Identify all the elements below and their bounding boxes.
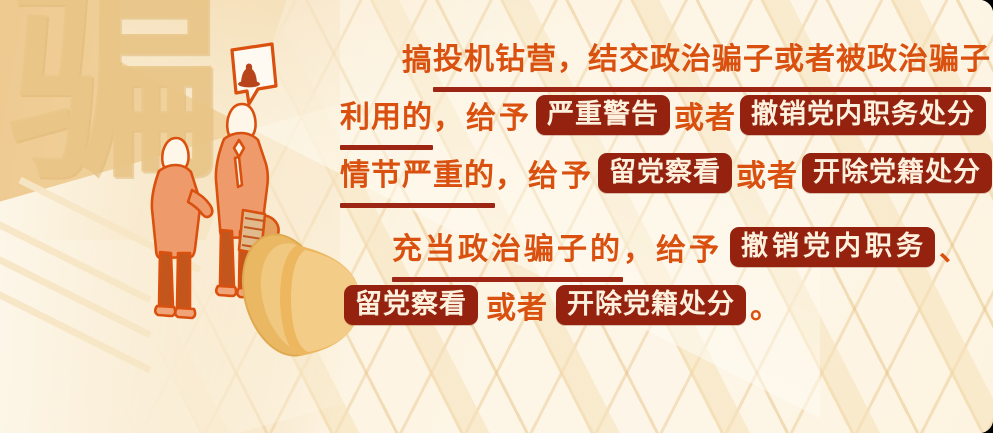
text-segment-underlined: 充当政治骗子的 [392, 224, 623, 270]
text-segment-punctuation: 。 [750, 283, 781, 327]
text-segment: 搞 [402, 35, 433, 79]
paragraph-2: 充当政治骗子的 ，给予 撤销党内职务 、 留党察看 或者 开除党籍处分 。 [340, 218, 980, 334]
text-segment-underlined: 情节严重的 [340, 150, 495, 196]
poster-container: 骗 [0, 0, 993, 433]
speech-bubble-icon [232, 44, 276, 104]
penalty-badge-probation[interactable]: 留党察看 [598, 153, 732, 193]
penalty-badge-expulsion[interactable]: 开除党籍处分 [802, 153, 992, 193]
penalty-badge-revoke-party-post-2[interactable]: 撤销党内职务 [730, 227, 935, 267]
text-segment-underlined: 投机钻营，结交政治骗子或者被政治骗子 [433, 34, 991, 80]
paragraph-1: 搞 投机钻营，结交政治骗子或者被政治骗子 利用的 ，给予 严重警告 或者 撤销党… [340, 28, 980, 202]
text-segment: ，给予 [495, 151, 594, 195]
paragraph-1-line-1: 搞 投机钻营，结交政治骗子或者被政治骗子 [340, 28, 980, 86]
penalty-badge-severe-warning[interactable]: 严重警告 [536, 95, 670, 135]
text-segment: 或者 [674, 93, 736, 137]
text-segment: 或者 [736, 151, 798, 195]
paragraph-2-line-2: 留党察看 或者 开除党籍处分 。 [340, 276, 980, 334]
paragraph-1-line-2: 利用的 ，给予 严重警告 或者 撤销党内职务处分 ； [340, 86, 980, 144]
corner-mask-bottom-right [979, 419, 993, 433]
paragraph-1-line-3: 情节严重的 ，给予 留党察看 或者 开除党籍处分 。 [340, 144, 980, 202]
penalty-badge-revoke-party-post[interactable]: 撤销党内职务处分 [740, 95, 986, 135]
penalty-badge-probation-2[interactable]: 留党察看 [344, 285, 478, 325]
text-segment: ，给予 [623, 225, 722, 269]
text-segment-underlined: 利用的 [340, 92, 433, 138]
text-segment-punctuation: 、 [939, 225, 970, 269]
corner-mask-top-right [979, 0, 993, 14]
text-segment: ，给予 [433, 93, 532, 137]
text-content-area: 搞 投机钻营，结交政治骗子或者被政治骗子 利用的 ，给予 严重警告 或者 撤销党… [340, 28, 980, 358]
figure-left-person [152, 138, 212, 318]
illustration-group [0, 0, 360, 433]
paragraph-2-line-1: 充当政治骗子的 ，给予 撤销党内职务 、 [340, 218, 980, 276]
penalty-badge-expulsion-2[interactable]: 开除党籍处分 [556, 285, 746, 325]
text-segment: 或者 [486, 283, 548, 327]
